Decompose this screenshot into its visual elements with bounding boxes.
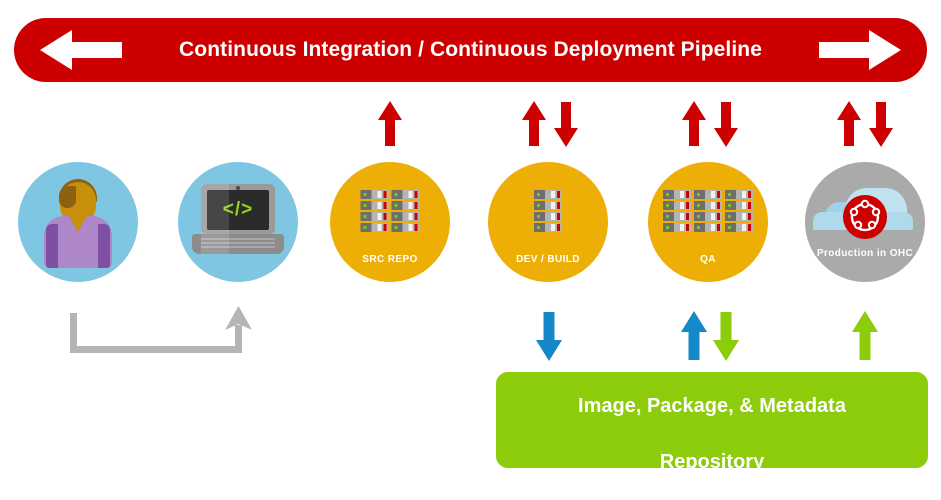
pipeline-banner: Continuous Integration / Continuous Depl… — [14, 18, 927, 82]
cicd-pipeline-diagram: Continuous Integration / Continuous Depl… — [0, 0, 941, 500]
pipeline-arrow-down-dev-build — [553, 100, 579, 148]
pipeline-arrow-down-production — [868, 100, 894, 148]
node-production[interactable]: Production in OHC — [805, 162, 925, 282]
server-rack-icon — [534, 190, 562, 232]
pipeline-arrow-down-qa — [713, 100, 739, 148]
node-label-qa: QA — [648, 254, 768, 266]
pipeline-arrow-up-production — [836, 100, 862, 148]
pipeline-arrow-up-src-repo — [377, 100, 403, 148]
node-workstation[interactable]: </> — [178, 162, 298, 282]
repo-arrow-down-dev-build — [535, 310, 563, 362]
laptop-code-icon: </> — [178, 162, 298, 282]
server-rack-icon — [663, 190, 753, 232]
server-rack-icon — [361, 190, 420, 232]
node-dev-build[interactable]: DEV / BUILD — [488, 162, 608, 282]
repository-label: Image, Package, & Metadata Repository — [578, 364, 846, 476]
pipeline-arrow-up-dev-build — [521, 100, 547, 148]
repo-arrow-up-qa — [680, 310, 708, 362]
pipeline-arrow-up-qa — [681, 100, 707, 148]
node-src-repo[interactable]: SRC REPO — [330, 162, 450, 282]
node-label-src-repo: SRC REPO — [330, 254, 450, 266]
arrow-up-icon — [224, 305, 253, 333]
node-qa[interactable]: QA — [648, 162, 768, 282]
node-developer[interactable] — [18, 162, 138, 282]
repository-line-1: Image, Package, & Metadata — [578, 395, 846, 417]
repo-arrow-up-production — [851, 310, 879, 362]
page-title: Continuous Integration / Continuous Depl… — [14, 18, 927, 82]
cloud-openshift-icon: Production in OHC — [805, 162, 925, 282]
openshift-logo-icon — [843, 195, 887, 239]
arrow-right-icon — [815, 27, 905, 73]
repository-line-2: Repository — [660, 451, 764, 473]
person-icon — [18, 162, 138, 282]
node-label-production: Production in OHC — [805, 248, 925, 260]
node-label-dev-build: DEV / BUILD — [488, 254, 608, 266]
repo-arrow-down-qa — [712, 310, 740, 362]
repository-box[interactable]: Image, Package, & Metadata Repository — [496, 372, 928, 468]
